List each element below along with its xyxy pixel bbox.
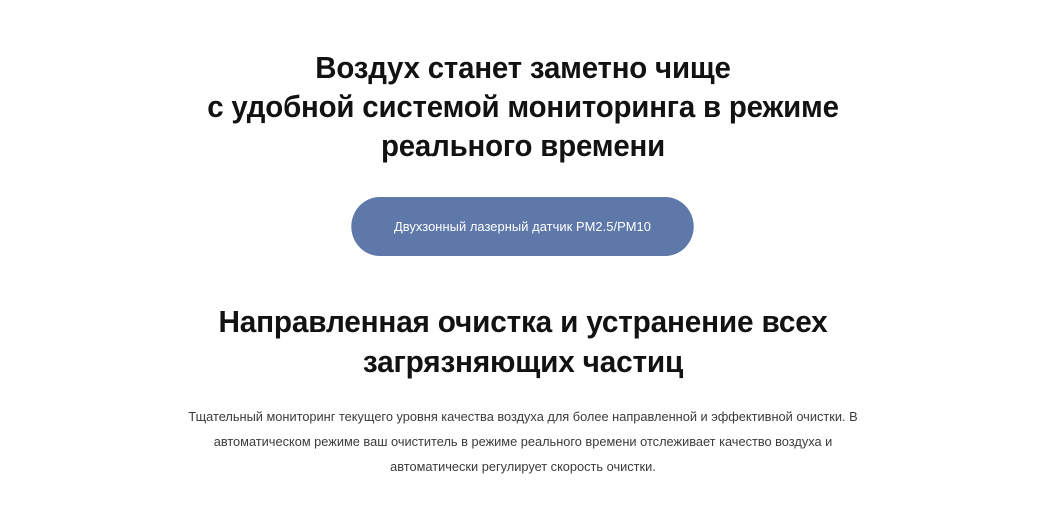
feature-title: Направленная очистка и устранение всех з… [91,302,955,382]
hero-title: Воздух станет заметно чище с удобной сис… [108,49,938,166]
feature-title-line-1: Направленная очистка и устранение всех [91,302,955,342]
hero-section: Воздух станет заметно чище с удобной сис… [0,0,1045,256]
feature-description: Тщательный мониторинг текущего уровня ка… [149,404,896,479]
cta-wrapper: Двухзонный лазерный датчик PM2.5/PM10 [0,197,1045,256]
feature-title-line-2: загрязняющих частиц [91,342,955,382]
feature-description-line-1: Тщательный мониторинг текущего уровня ка… [149,404,896,429]
hero-title-line-1: Воздух станет заметно чище [108,49,938,88]
hero-title-line-2: с удобной системой мониторинга в режиме [108,88,938,127]
feature-description-line-2: автоматическом режиме ваш очиститель в р… [149,429,896,454]
feature-section: Направленная очистка и устранение всех з… [0,302,1045,479]
hero-title-line-3: реального времени [108,127,938,166]
landing-page: Воздух станет заметно чище с удобной сис… [0,0,1045,506]
feature-description-line-3: автоматически регулирует скорость очистк… [149,454,896,479]
sensor-spec-button[interactable]: Двухзонный лазерный датчик PM2.5/PM10 [351,197,693,256]
